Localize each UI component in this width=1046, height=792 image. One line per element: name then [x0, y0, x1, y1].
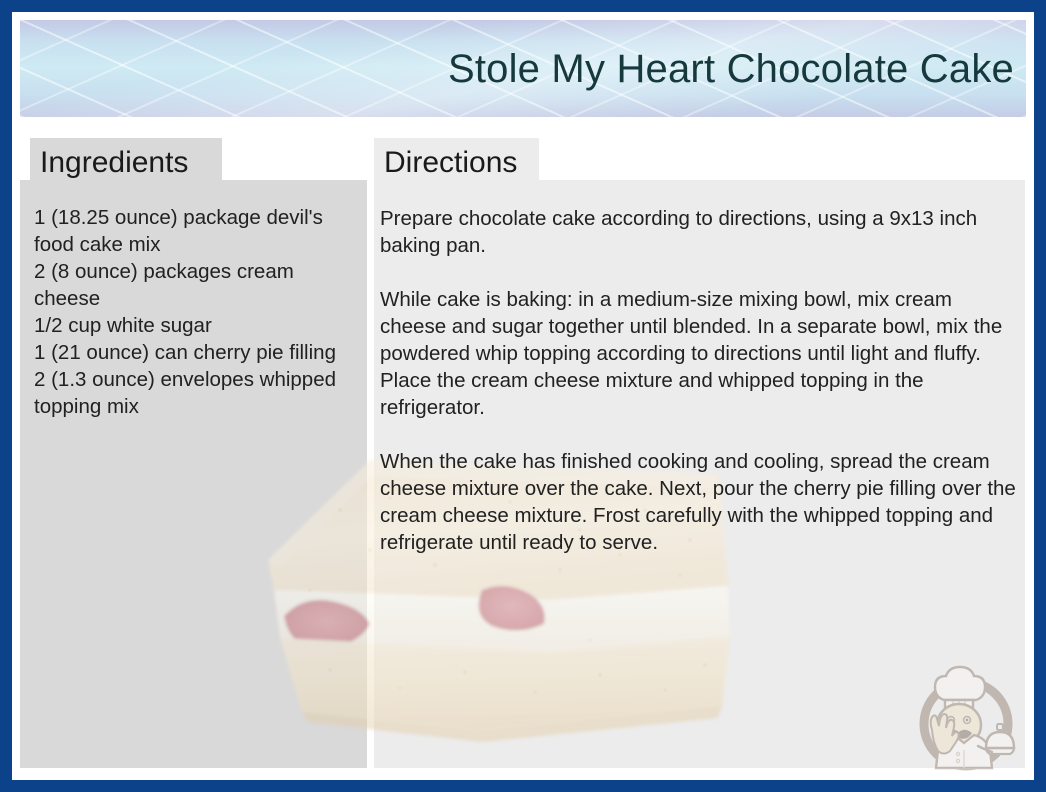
direction-paragraph: When the cake has finished cooking and c… — [380, 448, 1020, 556]
recipe-card: Stole My Heart Chocolate Cake — [0, 0, 1046, 792]
ingredients-list: 1 (18.25 ounce) package devil's food cak… — [34, 204, 360, 420]
tab-ingredients[interactable]: Ingredients — [30, 138, 222, 188]
recipe-page: Stole My Heart Chocolate Cake — [12, 12, 1034, 780]
direction-paragraph: Prepare chocolate cake according to dire… — [380, 205, 1020, 259]
list-item: 1 (18.25 ounce) package devil's food cak… — [34, 204, 360, 258]
tab-ingredients-label: Ingredients — [40, 148, 188, 178]
directions-body: Prepare chocolate cake according to dire… — [380, 205, 1020, 556]
header-banner: Stole My Heart Chocolate Cake — [20, 20, 1026, 117]
tab-directions-label: Directions — [384, 148, 517, 178]
tab-directions[interactable]: Directions — [374, 138, 539, 188]
list-item: 2 (1.3 ounce) envelopes whipped topping … — [34, 366, 360, 420]
direction-paragraph: While cake is baking: in a medium-size m… — [380, 286, 1020, 421]
list-item: 2 (8 ounce) packages cream cheese — [34, 258, 360, 312]
list-item: 1/2 cup white sugar — [34, 312, 360, 339]
list-item: 1 (21 ounce) can cherry pie filling — [34, 339, 360, 366]
recipe-title: Stole My Heart Chocolate Cake — [448, 49, 1014, 89]
